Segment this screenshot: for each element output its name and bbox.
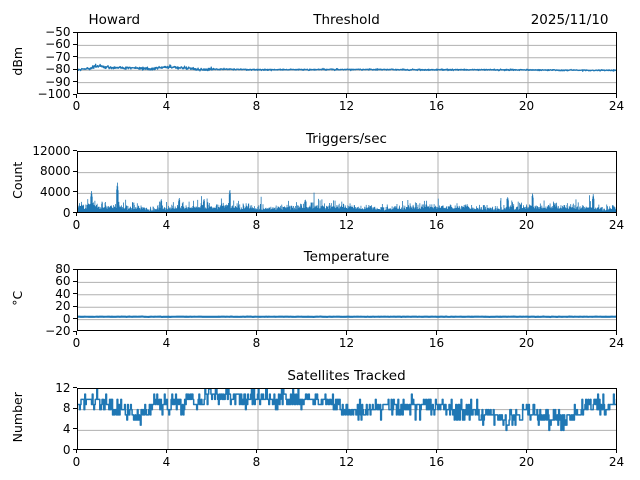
x-tick-label: 4 [142, 456, 192, 468]
y-tick-label: −70 [1, 51, 71, 63]
y-tick-label: −50 [1, 26, 71, 38]
y-tick-label: 60 [1, 275, 71, 287]
y-tick-label: 8000 [1, 165, 71, 177]
y-tick-mark [73, 56, 77, 57]
x-tick-label: 8 [232, 456, 282, 468]
x-tick-label: 24 [592, 337, 640, 349]
panel-left-title: Howard [89, 14, 141, 28]
y-tick-mark [73, 32, 77, 33]
y-tick-label: −20 [1, 325, 71, 337]
x-tick-label: 0 [52, 456, 102, 468]
y-tick-mark [73, 428, 77, 429]
x-tick-mark [616, 450, 617, 454]
y-tick-label: 0 [1, 313, 71, 325]
y-tick-mark [73, 281, 77, 282]
y-tick-mark [73, 318, 77, 319]
x-tick-mark [436, 450, 437, 454]
y-tick-label: 0 [1, 207, 71, 219]
panel-title-temperature: Temperature [77, 251, 617, 265]
y-tick-label: 12000 [1, 145, 71, 157]
figure-canvas: Howard Threshold 2025/11/10 dBm Triggers… [0, 0, 640, 480]
x-tick-mark [526, 450, 527, 454]
x-tick-label: 20 [502, 100, 552, 112]
x-tick-label: 0 [52, 337, 102, 349]
panel-title-satellites: Satellites Tracked [77, 370, 617, 384]
x-tick-mark [346, 94, 347, 98]
x-tick-mark [526, 213, 527, 217]
x-tick-label: 4 [142, 219, 192, 231]
x-tick-mark [346, 213, 347, 217]
y-tick-label: −90 [1, 76, 71, 88]
y-tick-label: −80 [1, 63, 71, 75]
x-tick-label: 8 [232, 219, 282, 231]
x-tick-mark [526, 331, 527, 335]
x-tick-label: 24 [592, 219, 640, 231]
x-tick-mark [166, 450, 167, 454]
x-tick-label: 20 [502, 337, 552, 349]
x-tick-label: 12 [322, 100, 372, 112]
plot-svg-temperature [78, 270, 617, 331]
panel-center-title: Threshold [77, 14, 617, 28]
y-tick-mark [73, 293, 77, 294]
x-tick-mark [616, 331, 617, 335]
x-tick-mark [616, 94, 617, 98]
x-tick-mark [436, 94, 437, 98]
x-tick-label: 0 [52, 100, 102, 112]
x-tick-mark [76, 213, 77, 217]
x-tick-label: 24 [592, 456, 640, 468]
y-tick-mark [73, 81, 77, 82]
x-tick-label: 16 [412, 456, 462, 468]
x-tick-label: 12 [322, 456, 372, 468]
x-tick-label: 16 [412, 219, 462, 231]
y-tick-mark [73, 171, 77, 172]
panel-right-title: 2025/11/10 [77, 14, 609, 28]
y-tick-mark [73, 387, 77, 388]
x-tick-mark [526, 94, 527, 98]
plot-area-temperature[interactable] [77, 269, 617, 331]
y-tick-label: 4000 [1, 186, 71, 198]
x-tick-label: 24 [592, 100, 640, 112]
x-tick-label: 4 [142, 100, 192, 112]
x-tick-mark [256, 450, 257, 454]
data-series-temperature [78, 317, 617, 318]
x-tick-mark [436, 331, 437, 335]
x-tick-mark [346, 450, 347, 454]
x-tick-mark [256, 94, 257, 98]
x-tick-label: 12 [322, 219, 372, 231]
x-tick-label: 20 [502, 219, 552, 231]
y-tick-label: −60 [1, 38, 71, 50]
y-tick-label: 80 [1, 263, 71, 275]
x-tick-mark [76, 450, 77, 454]
x-tick-label: 8 [232, 100, 282, 112]
x-tick-label: 8 [232, 337, 282, 349]
x-tick-label: 16 [412, 100, 462, 112]
y-tick-mark [73, 408, 77, 409]
x-tick-mark [166, 213, 167, 217]
x-tick-mark [616, 213, 617, 217]
y-tick-label: −100 [1, 88, 71, 100]
y-tick-mark [73, 44, 77, 45]
x-tick-mark [346, 331, 347, 335]
y-tick-label: 0 [1, 444, 71, 456]
x-tick-mark [166, 94, 167, 98]
x-tick-label: 4 [142, 337, 192, 349]
x-tick-mark [76, 331, 77, 335]
plot-svg-satellites [78, 389, 617, 450]
y-tick-label: 12 [1, 382, 71, 394]
y-tick-mark [73, 150, 77, 151]
x-tick-mark [256, 213, 257, 217]
x-tick-mark [166, 331, 167, 335]
plot-area-satellites[interactable] [77, 388, 617, 450]
y-tick-mark [73, 191, 77, 192]
x-tick-label: 12 [322, 337, 372, 349]
x-tick-mark [436, 213, 437, 217]
y-tick-label: 4 [1, 423, 71, 435]
x-tick-label: 16 [412, 337, 462, 349]
x-tick-mark [256, 331, 257, 335]
plot-area-triggers[interactable] [77, 151, 617, 213]
y-tick-mark [73, 306, 77, 307]
y-tick-label: 8 [1, 402, 71, 414]
y-tick-label: 20 [1, 300, 71, 312]
panel-title-triggers: Triggers/sec [77, 133, 617, 147]
y-tick-mark [73, 269, 77, 270]
y-tick-label: 40 [1, 288, 71, 300]
plot-svg-threshold [78, 33, 617, 94]
x-tick-label: 0 [52, 219, 102, 231]
x-tick-mark [76, 94, 77, 98]
y-tick-mark [73, 69, 77, 70]
x-tick-label: 20 [502, 456, 552, 468]
plot-area-threshold[interactable] [77, 32, 617, 94]
plot-svg-triggers [78, 152, 617, 213]
